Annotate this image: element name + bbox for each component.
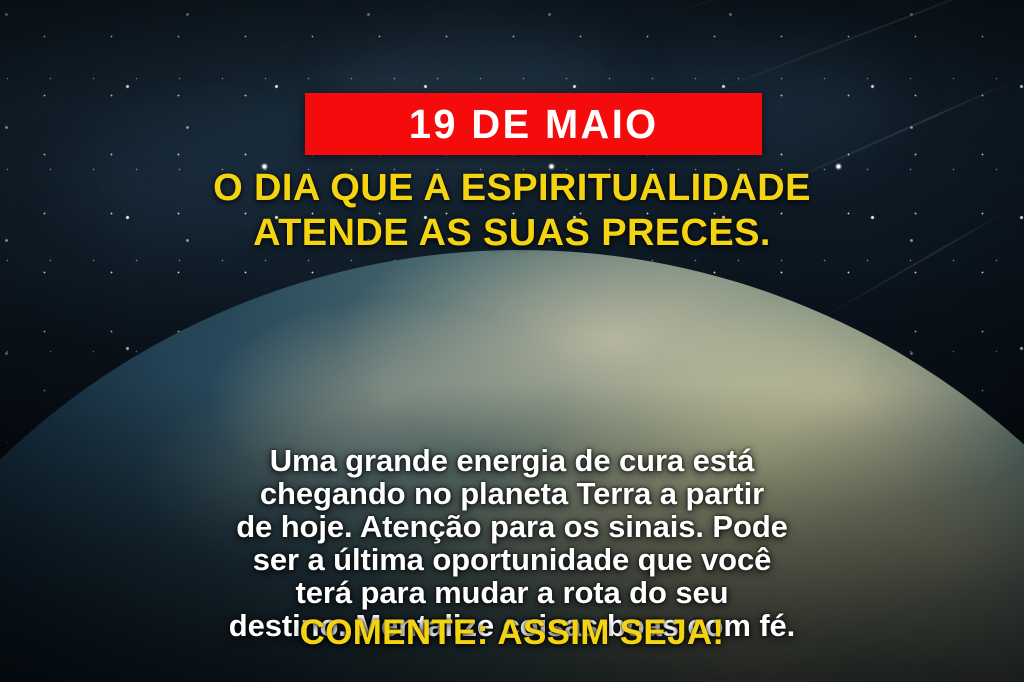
body-line-1: Uma grande energia de cura está [50,444,974,477]
date-banner-label: 19 DE MAIO [409,104,659,145]
headline-line-2: ATENDE AS SUAS PRECES. [0,211,1024,256]
body-line-2: chegando no planeta Terra a partir [50,477,974,510]
poster-canvas: 19 DE MAIO O DIA QUE A ESPIRITUALIDADE A… [0,0,1024,685]
headline: O DIA QUE A ESPIRITUALIDADE ATENDE AS SU… [0,166,1024,256]
call-to-action-text: COMENTE: ASSIM SEJA! [0,613,1024,653]
body-line-5: terá para mudar a rota do seu [50,576,974,609]
body-line-4: ser a última oportunidade que você [50,543,974,576]
headline-line-1: O DIA QUE A ESPIRITUALIDADE [0,166,1024,211]
poster-content: 19 DE MAIO O DIA QUE A ESPIRITUALIDADE A… [0,0,1024,685]
date-banner: 19 DE MAIO [305,93,762,155]
body-line-3: de hoje. Atenção para os sinais. Pode [50,510,974,543]
